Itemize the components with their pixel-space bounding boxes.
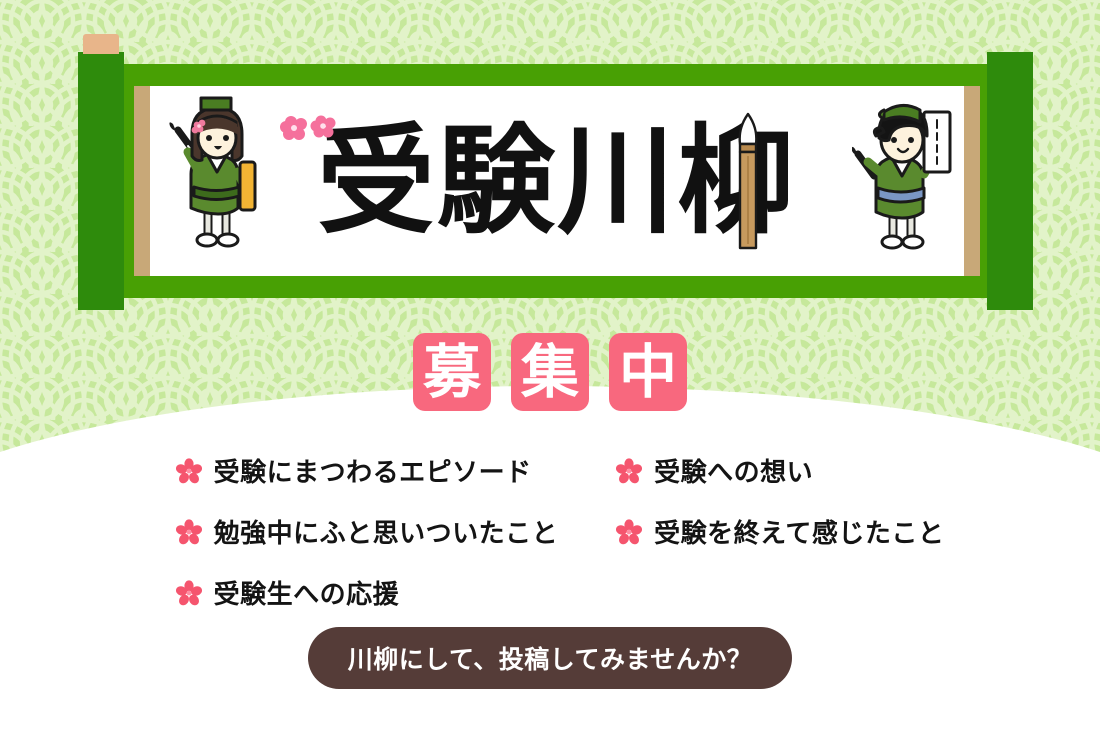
scroll-paper: 受験川柳 (134, 86, 980, 276)
list-item: 受験への想い (616, 452, 944, 489)
list-item: 勉強中にふと思いついたこと (176, 513, 559, 550)
scroll-knob (83, 34, 119, 54)
list-item-label: 受験への想い (654, 452, 813, 489)
list-item: 受験にまつわるエピソード (176, 452, 559, 489)
list-item-label: 勉強中にふと思いついたこと (214, 513, 559, 550)
sakura-blossom-icon (616, 458, 642, 484)
topic-list: 受験にまつわるエピソード 勉強中にふと思いついたこと (0, 452, 1100, 611)
sakura-blossom-icon (176, 519, 202, 545)
sakura-blossom-icon (176, 580, 202, 606)
recruiting-badges: 募 集 中 (0, 333, 1100, 411)
badge-chuu: 中 (609, 333, 687, 411)
boy-with-tanzaku-illustration (852, 94, 956, 256)
scroll-frame: 受験川柳 (112, 64, 1002, 298)
list-item-label: 受験にまつわるエピソード (214, 452, 532, 489)
sakura-blossom-icon (616, 519, 642, 545)
scroll-roller-right (987, 52, 1033, 310)
topic-column-left: 受験にまつわるエピソード 勉強中にふと思いついたこと (176, 452, 559, 611)
list-item: 受験を終えて感じたこと (616, 513, 944, 550)
topic-column-right: 受験への想い 受験を終えて感じたこと (616, 452, 944, 611)
list-item-label: 受験を終えて感じたこと (654, 513, 944, 550)
list-item-label: 受験生への応援 (214, 574, 400, 611)
scroll-title: 受験川柳 (317, 122, 797, 240)
scroll-roller-left (78, 52, 124, 310)
sakura-blossom-icon (176, 458, 202, 484)
cta-container: 川柳にして、投稿してみませんか？ (0, 627, 1100, 689)
badge-bo: 募 (413, 333, 491, 411)
hanging-scroll: 受験川柳 (78, 52, 1033, 310)
list-item: 受験生への応援 (176, 574, 559, 611)
badge-shuu: 集 (511, 333, 589, 411)
poster-root: 受験川柳 (0, 0, 1100, 733)
submit-senryu-button[interactable]: 川柳にして、投稿してみませんか？ (308, 627, 793, 689)
girl-calligrapher-illustration (164, 94, 268, 256)
scroll-inner: 受験川柳 (150, 86, 964, 276)
